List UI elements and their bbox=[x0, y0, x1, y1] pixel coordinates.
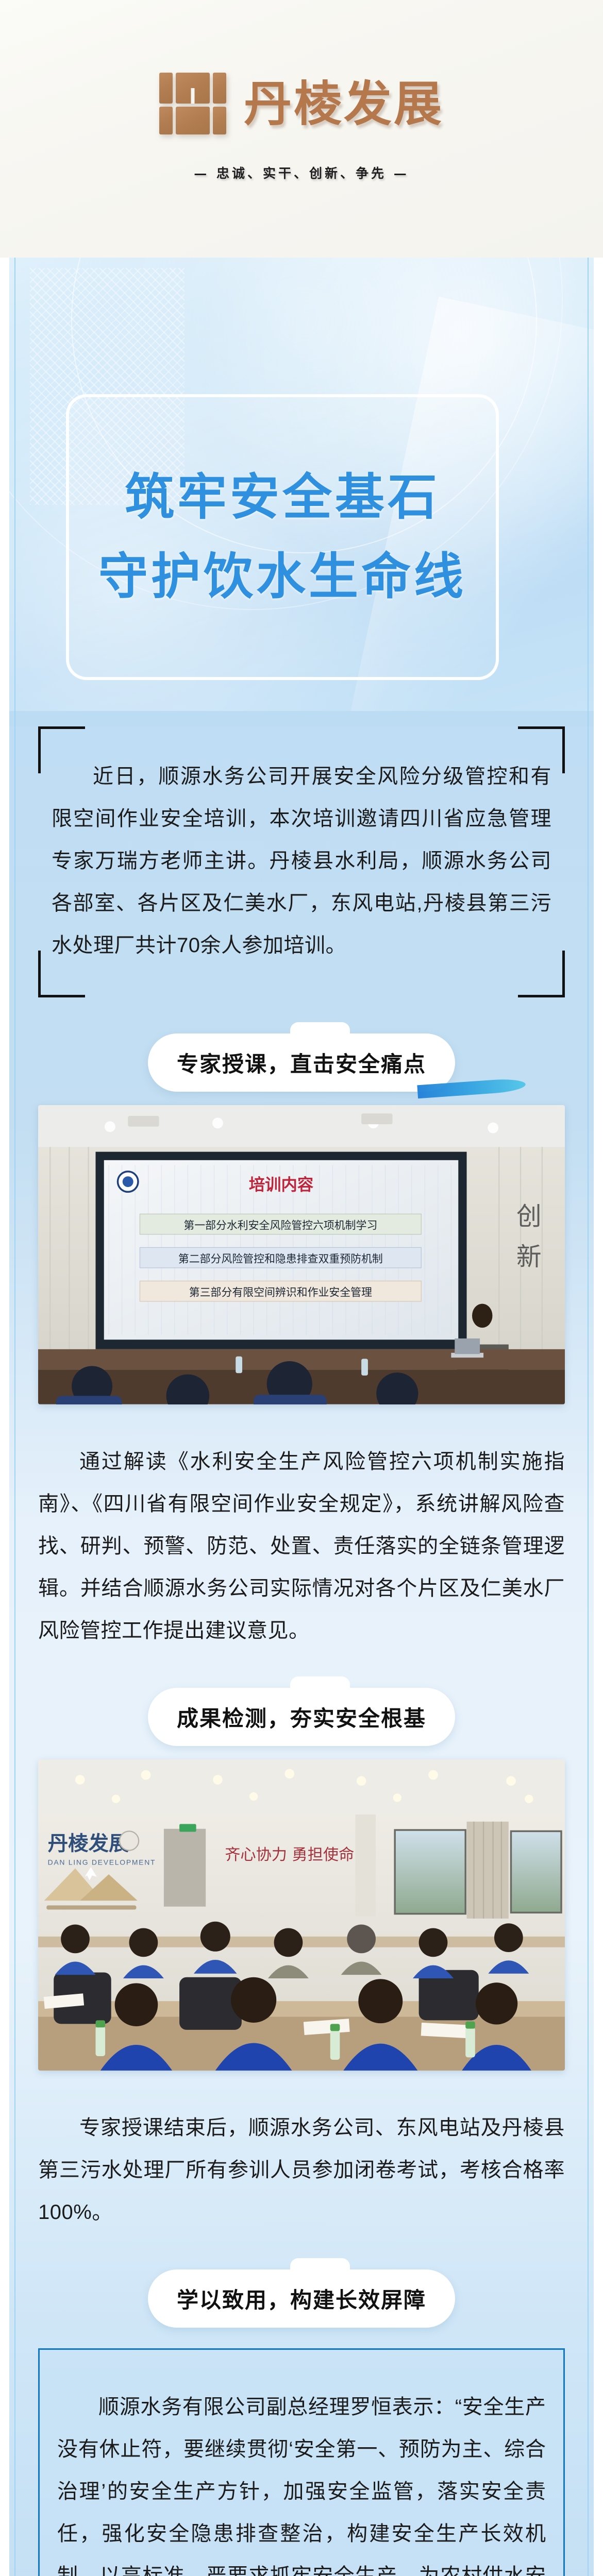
intro-paragraph: 近日，顺源水务公司开展安全风险分级管控和有限空间作业安全培训，本次培训邀请四川省… bbox=[52, 755, 551, 967]
svg-text:DAN LING DEVELOPMENT: DAN LING DEVELOPMENT bbox=[48, 1858, 156, 1866]
executive-quote-box: 顺源水务有限公司副总经理罗恒表示：“安全生产没有休止符，要继续贯彻‘安全第一、预… bbox=[38, 2348, 565, 2576]
section-heading-2-label: 成果检测，夯实安全根基 bbox=[148, 1688, 455, 1746]
section-3-paragraph: 顺源水务有限公司副总经理罗恒表示：“安全生产没有休止符，要继续贯彻‘安全第一、预… bbox=[57, 2386, 546, 2576]
photo-closed-book-exam: 丹棱发展 DAN LING DEVELOPMENT bbox=[38, 1759, 565, 2071]
svg-text:培训内容: 培训内容 bbox=[249, 1176, 314, 1194]
svg-text:齐心协力 勇担使命: 齐心协力 勇担使命 bbox=[225, 1846, 354, 1864]
photo-training-lecture: 培训内容 第一部分水利安全风险管控六项机制学习 第二部分风险管控和隐患排查双重预… bbox=[38, 1105, 565, 1404]
corner-bracket-top-left-icon bbox=[38, 726, 85, 773]
article-content: 近日，顺源水务公司开展安全风险分级管控和有限空间作业安全培训，本次培训邀请四川省… bbox=[9, 726, 594, 2576]
intro-bracket-block: 近日，顺源水务公司开展安全风险分级管控和有限空间作业安全培训，本次培训邀请四川省… bbox=[38, 726, 565, 997]
hero-title-line-1: 筑牢安全基石 bbox=[125, 473, 440, 522]
corner-bracket-bottom-left-icon bbox=[38, 951, 85, 997]
section-heading-3-label: 学以致用，构建长效屏障 bbox=[148, 2269, 455, 2328]
brick-grid-logo-icon bbox=[159, 73, 226, 134]
content-inner: 近日，顺源水务公司开展安全风险分级管控和有限空间作业安全培训，本次培训邀请四川省… bbox=[15, 726, 588, 2576]
section-heading-1: 专家授课，直击安全痛点 bbox=[38, 1033, 565, 1092]
section-heading-1-label: 专家授课，直击安全痛点 bbox=[148, 1033, 455, 1092]
masthead-row: 丹棱发展 bbox=[159, 73, 444, 134]
svg-text:创: 创 bbox=[516, 1201, 542, 1231]
section-1-paragraph: 通过解读《水利安全生产风险管控六项机制实施指南》、《四川省有限空间作业安全规定》… bbox=[38, 1440, 565, 1652]
svg-text:丹棱发展: 丹棱发展 bbox=[48, 1832, 129, 1855]
svg-text:第三部分有限空间辨识和作业安全管理: 第三部分有限空间辨识和作业安全管理 bbox=[189, 1286, 372, 1298]
corner-bracket-top-right-icon bbox=[518, 726, 565, 773]
hero-title-card: 筑牢安全基石 守护饮水生命线 bbox=[66, 394, 499, 680]
svg-text:第二部分风险管控和隐患排查双重预防机制: 第二部分风险管控和隐患排查双重预防机制 bbox=[178, 1252, 383, 1265]
blue-frame-column: 筑牢安全基石 守护饮水生命线 近日，顺源水务公司开展安全风险分级管控和有限空间作… bbox=[9, 258, 594, 2576]
hero-banner: 筑牢安全基石 守护饮水生命线 bbox=[9, 258, 594, 711]
hero-title-line-2: 守护饮水生命线 bbox=[98, 552, 466, 602]
article-page: 丹棱发展 — 忠诚、实干、创新、争先 — 筑牢安全基石 守护饮水生命线 bbox=[0, 0, 603, 2576]
brand-tagline: — 忠诚、实干、创新、争先 — bbox=[194, 163, 409, 182]
svg-text:第一部分水利安全风险管控六项机制学习: 第一部分水利安全风险管控六项机制学习 bbox=[183, 1219, 377, 1231]
section-heading-3: 学以致用，构建长效屏障 bbox=[38, 2269, 565, 2328]
corner-bracket-bottom-right-icon bbox=[518, 951, 565, 997]
svg-text:新: 新 bbox=[516, 1242, 542, 1272]
masthead-header: 丹棱发展 — 忠诚、实干、创新、争先 — bbox=[0, 0, 603, 258]
section-2-paragraph: 专家授课结束后，顺源水务公司、东风电站及丹棱县第三污水处理厂所有参训人员参加闭卷… bbox=[38, 2107, 565, 2233]
section-heading-2: 成果检测，夯实安全根基 bbox=[38, 1688, 565, 1746]
brand-title: 丹棱发展 bbox=[244, 80, 444, 128]
body-wrapper: 筑牢安全基石 守护饮水生命线 近日，顺源水务公司开展安全风险分级管控和有限空间作… bbox=[0, 258, 603, 2576]
